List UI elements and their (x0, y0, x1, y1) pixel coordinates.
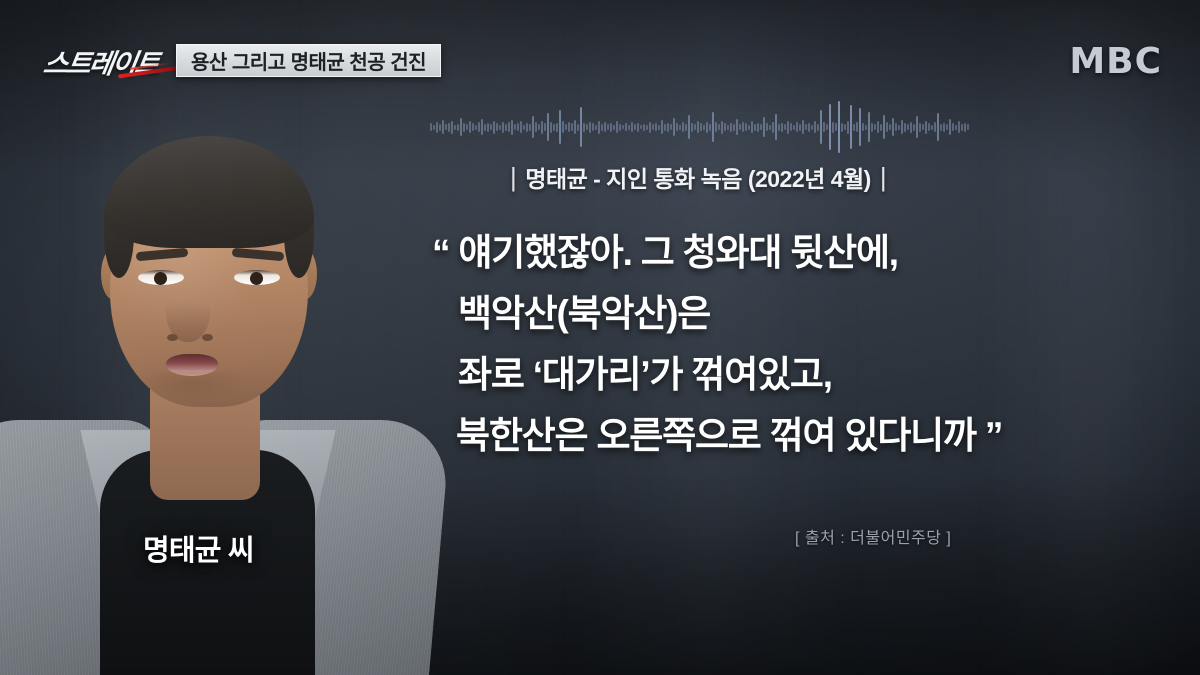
waveform-bar (475, 125, 477, 130)
waveform-bar (844, 124, 846, 130)
waveform-bar (544, 123, 546, 131)
waveform-bar (700, 123, 702, 131)
waveform-bar (721, 121, 723, 134)
waveform-bar (556, 123, 558, 132)
caption-text: 명태균 - 지인 통화 녹음 (2022년 4월) (525, 160, 871, 194)
waveform-bar (430, 123, 432, 131)
waveform-bar (646, 125, 648, 130)
waveform-bar (850, 105, 852, 149)
waveform-bar (628, 125, 630, 130)
waveform-bar (505, 124, 507, 131)
quote-line-1: “ 얘기했잖아. 그 청와대 뒷산에, (432, 222, 1172, 283)
waveform-bar (538, 124, 540, 130)
waveform-bar (469, 121, 471, 133)
waveform-bar (523, 125, 525, 130)
waveform-bar (760, 124, 762, 130)
waveform-bar (454, 125, 456, 130)
pupil-right (250, 272, 263, 285)
waveform-bar (775, 114, 777, 140)
waveform-bar (847, 121, 849, 134)
waveform-bar (583, 123, 585, 132)
waveform-bar (712, 112, 714, 142)
waveform-bar (892, 118, 894, 136)
waveform-bar (478, 122, 480, 132)
waveform-bar (865, 125, 867, 130)
waveform-bar (928, 123, 930, 131)
waveform-bar (634, 124, 636, 130)
waveform-bar (577, 124, 579, 131)
waveform-bar (709, 124, 711, 131)
waveform-bar (643, 124, 645, 131)
waveform-bar (493, 121, 495, 134)
waveform-bar (886, 122, 888, 132)
pupil-left (154, 272, 167, 285)
waveform-bar (490, 124, 492, 130)
waveform-bar (682, 122, 684, 132)
waveform-bar (958, 121, 960, 133)
waveform-bar (961, 124, 963, 131)
waveform-bar (616, 121, 618, 133)
waveform-bar (715, 122, 717, 132)
waveform-bar (568, 122, 570, 132)
waveform-bar (808, 123, 810, 132)
caption-bracket-right: | (880, 162, 886, 193)
waveform-bar (793, 125, 795, 130)
waveform-bar (520, 121, 522, 133)
headline-text: 용산 그리고 명태균 천공 건진 (191, 46, 426, 75)
waveform-bar (466, 124, 468, 130)
waveform-bar (649, 122, 651, 133)
waveform-bar (679, 125, 681, 130)
waveform-bar (580, 107, 582, 147)
waveform-bar (748, 125, 750, 130)
waveform-bar (907, 124, 909, 130)
waveform-bar (859, 108, 861, 146)
waveform-bar (631, 122, 633, 132)
waveform-bar (937, 113, 939, 141)
waveform-bar (622, 125, 624, 129)
waveform-bar (796, 122, 798, 132)
waveform-bar (502, 122, 504, 133)
waveform-bar (874, 124, 876, 130)
waveform-bar (598, 121, 600, 134)
waveform-bar (499, 125, 501, 130)
waveform-bar (604, 122, 606, 132)
waveform-bar (766, 123, 768, 131)
eye-right (234, 270, 280, 285)
waveform-bar (625, 123, 627, 131)
waveform-bar (745, 123, 747, 131)
waveform-bar (442, 120, 444, 134)
waveform-bar (433, 125, 435, 130)
waveform-bar (820, 110, 822, 144)
waveform-bar (784, 124, 786, 130)
waveform-bar (487, 123, 489, 132)
waveform-bar (592, 123, 594, 131)
waveform-bar (802, 120, 804, 134)
waveform-bar (658, 125, 660, 130)
quote-block: “ 얘기했잖아. 그 청와대 뒷산에, 백악산(북악산)은 좌로 ‘대가리’가 … (432, 222, 1172, 466)
waveform-bar (694, 124, 696, 130)
waveform-bar (931, 125, 933, 130)
waveform-bar (841, 123, 843, 132)
waveform-bar (472, 123, 474, 131)
waveform-bar (823, 122, 825, 132)
waveform-bar (811, 125, 813, 130)
quote-line-4: 북한산은 오른쪽으로 꺾여 있다니까 ” (432, 405, 1172, 466)
waveform-bar (661, 120, 663, 134)
waveform-bar (574, 120, 576, 134)
waveform-bar (688, 115, 690, 139)
waveform-bar (619, 124, 621, 131)
waveform-bar (922, 124, 924, 130)
waveform-bar (829, 104, 831, 150)
broadcast-screen: 스트레이트 용산 그리고 명태균 천공 건진 MBC | 명태균 - 지인 통화… (0, 0, 1200, 675)
quote-line-3: 좌로 ‘대가리’가 꺾여있고, (432, 344, 1172, 405)
waveform-bar (559, 110, 561, 144)
nostril-left (167, 334, 178, 341)
waveform-bar (565, 124, 567, 130)
speaker-name-label: 명태균 씨 (143, 527, 254, 569)
waveform-bar (496, 123, 498, 131)
waveform-bar (718, 124, 720, 130)
waveform-bar (448, 123, 450, 132)
waveform-bar (571, 123, 573, 131)
waveform-bar (562, 121, 564, 133)
waveform-bar (952, 123, 954, 131)
waveform-bar (913, 124, 915, 131)
waveform-bar (934, 122, 936, 132)
waveform-bar (613, 125, 615, 130)
waveform-bar (949, 119, 951, 135)
waveform-bar (883, 115, 885, 139)
nostril-right (202, 334, 213, 341)
waveform-bar (697, 121, 699, 133)
waveform-bar (805, 124, 807, 130)
waveform-bar (733, 124, 735, 131)
waveform-bar (751, 121, 753, 133)
program-logo-text: 스트레이트 (41, 42, 161, 81)
waveform-bar (652, 124, 654, 130)
waveform-bar (901, 120, 903, 134)
headline-banner: 용산 그리고 명태균 천공 건진 (176, 44, 441, 77)
waveform-bar (730, 123, 732, 132)
waveform-bar (757, 123, 759, 132)
waveform-bar (553, 124, 555, 131)
waveform-bar (526, 123, 528, 132)
waveform-bar (706, 122, 708, 133)
waveform-bar (925, 121, 927, 134)
waveform-bar (685, 124, 687, 131)
clip-caption: | 명태균 - 지인 통화 녹음 (2022년 4월) | (510, 160, 886, 194)
waveform-bar (511, 120, 513, 135)
caption-bracket-left: | (510, 162, 516, 193)
waveform-bar (868, 112, 870, 142)
chin-shadow (140, 372, 245, 408)
waveform-bar (517, 123, 519, 131)
waveform-bar (670, 124, 672, 130)
waveform-bar (607, 124, 609, 130)
waveform-bar (781, 123, 783, 132)
waveform-bar (787, 121, 789, 134)
waveform-bar (955, 125, 957, 130)
waveform-bar (463, 123, 465, 132)
waveform-bar (916, 116, 918, 138)
waveform-bar (601, 124, 603, 131)
waveform-bar (832, 122, 834, 133)
waveform-bar (460, 118, 462, 136)
network-logo: MBC (1069, 41, 1162, 82)
program-logo: 스트레이트 (44, 44, 176, 78)
waveform-bar (778, 124, 780, 131)
speaker-portrait (0, 120, 440, 675)
waveform-bar (853, 124, 855, 131)
waveform-bar (586, 124, 588, 130)
waveform-bar (595, 125, 597, 130)
waveform-bar (817, 124, 819, 131)
waveform-bar (691, 123, 693, 132)
waveform-bar (724, 123, 726, 131)
waveform-bar (514, 124, 516, 130)
waveform-bar (451, 121, 453, 134)
waveform-bar (484, 124, 486, 131)
waveform-bar (532, 116, 534, 138)
source-attribution: [ 출처 : 더불어민주당 ] (795, 524, 951, 548)
waveform-bar (541, 121, 543, 134)
waveform-bar (739, 124, 741, 130)
waveform-bar (889, 124, 891, 130)
waveform-bar (799, 124, 801, 131)
waveform-bar (940, 124, 942, 131)
waveform-bar (703, 125, 705, 130)
waveform-bar (481, 119, 483, 135)
waveform-bar (910, 122, 912, 133)
quote-line-2: 백악산(북악산)은 (432, 283, 1172, 344)
nose (166, 280, 210, 342)
waveform-bar (640, 125, 642, 129)
waveform-bar (637, 123, 639, 132)
waveform-bar (967, 124, 969, 130)
waveform-bar (943, 123, 945, 132)
waveform-bar (946, 124, 948, 130)
waveform-bar (835, 123, 837, 131)
waveform-bar (763, 117, 765, 137)
waveform-bar (838, 101, 840, 153)
waveform-bar (754, 124, 756, 131)
waveform-bar (877, 121, 879, 133)
waveform-bar (862, 123, 864, 131)
waveform-bar (742, 122, 744, 132)
audio-waveform (430, 92, 1180, 162)
waveform-bar (727, 125, 729, 130)
waveform-bar (895, 123, 897, 131)
waveform-bar (676, 123, 678, 131)
waveform-bar (550, 122, 552, 133)
waveform-bar (826, 124, 828, 130)
waveform-bar (535, 122, 537, 132)
waveform-bar (880, 124, 882, 131)
waveform-bar (736, 119, 738, 135)
waveform-bar (871, 123, 873, 132)
waveform-bar (856, 122, 858, 132)
waveform-bar (904, 123, 906, 132)
waveform-bar (610, 123, 612, 132)
waveform-bar (898, 125, 900, 130)
waveform-bar (667, 123, 669, 132)
waveform-bar (964, 123, 966, 132)
waveform-bar (673, 118, 675, 136)
waveform-bar (790, 123, 792, 131)
waveform-bar (919, 123, 921, 132)
waveform-bar (529, 124, 531, 131)
waveform-bar (664, 124, 666, 131)
waveform-bar (439, 124, 441, 131)
waveform-bar (772, 122, 774, 133)
hair (104, 136, 314, 248)
waveform-bar (445, 124, 447, 130)
waveform-bar (769, 125, 771, 130)
waveform-bar (457, 124, 459, 131)
waveform-bar (814, 121, 816, 133)
waveform-bar (589, 122, 591, 133)
waveform-bar (436, 122, 438, 133)
waveform-bar (547, 113, 549, 141)
waveform-bar (655, 123, 657, 131)
waveform-bar (508, 122, 510, 132)
